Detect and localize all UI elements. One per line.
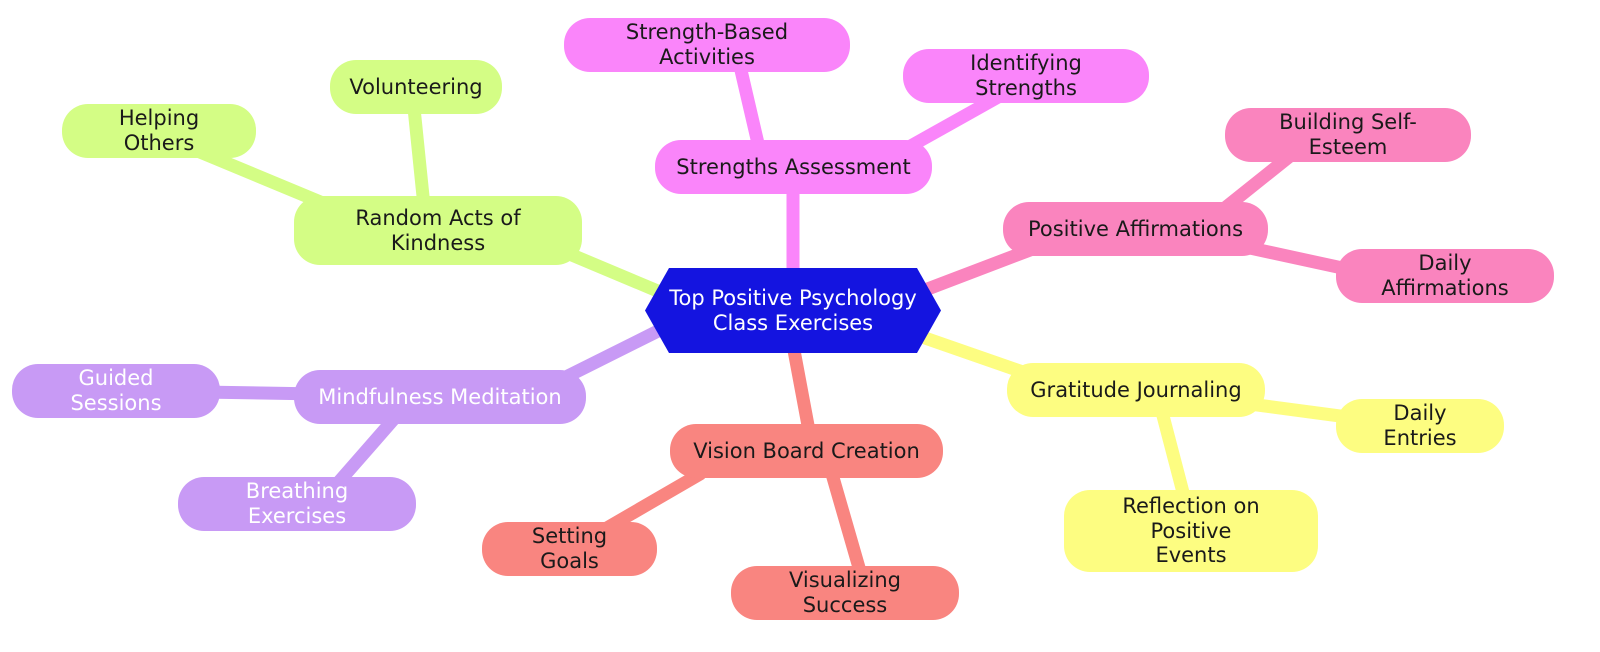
edge-root-vision-board (793, 345, 810, 436)
mindmap-node-identifying-strengths[interactable]: Identifying Strengths (903, 49, 1149, 103)
mindmap-node-vision-board-creation[interactable]: Vision Board Creation (670, 424, 943, 478)
mindmap-node-breathing-exercises[interactable]: Breathing Exercises (178, 477, 416, 531)
mindmap-node-label-visualizing-success: Visualizing Success (751, 568, 939, 618)
mindmap-node-label-daily-entries: Daily Entries (1356, 401, 1484, 451)
edge-random-acts-volunteering (414, 108, 424, 206)
mindmap-node-visualizing-success[interactable]: Visualizing Success (731, 566, 959, 620)
mindmap-node-label-reflection-on-positive-events: Reflection on Positive Events (1084, 494, 1298, 568)
mindmap-canvas: Helping OthersVolunteeringRandom Acts of… (0, 0, 1600, 652)
edge-vision-visualizing (832, 474, 862, 578)
mindmap-node-label-building-self-esteem: Building Self-Esteem (1245, 110, 1451, 160)
mindmap-node-strengths-assessment[interactable]: Strengths Assessment (655, 140, 932, 194)
mindmap-node-label-identifying-strengths: Identifying Strengths (923, 51, 1129, 101)
mindmap-node-gratitude-journaling[interactable]: Gratitude Journaling (1007, 363, 1265, 417)
mindmap-node-volunteering[interactable]: Volunteering (330, 60, 502, 114)
mindmap-node-positive-affirmations[interactable]: Positive Affirmations (1003, 202, 1268, 256)
mindmap-node-random-acts-of-kindness[interactable]: Random Acts of Kindness (294, 196, 582, 265)
mindmap-node-helping-others[interactable]: Helping Others (62, 104, 256, 158)
mindmap-node-reflection-on-positive-events[interactable]: Reflection on Positive Events (1064, 490, 1318, 572)
mindmap-node-label-strength-based-activities: Strength-Based Activities (584, 20, 830, 70)
mindmap-node-guided-sessions[interactable]: Guided Sessions (12, 364, 220, 418)
mindmap-node-root[interactable]: Top Positive Psychology Class Exercises (645, 268, 941, 353)
mindmap-node-daily-affirmations[interactable]: Daily Affirmations (1336, 249, 1554, 303)
mindmap-node-label-strengths-assessment: Strengths Assessment (676, 155, 910, 180)
mindmap-node-label-mindfulness-meditation: Mindfulness Meditation (318, 385, 561, 410)
mindmap-node-mindfulness-meditation[interactable]: Mindfulness Meditation (294, 370, 586, 424)
mindmap-node-setting-goals[interactable]: Setting Goals (482, 522, 657, 576)
mindmap-node-strength-based-activities[interactable]: Strength-Based Activities (564, 18, 850, 72)
mindmap-node-building-self-esteem[interactable]: Building Self-Esteem (1225, 108, 1471, 162)
mindmap-node-label-vision-board-creation: Vision Board Creation (693, 439, 920, 464)
mindmap-node-label-random-acts-of-kindness: Random Acts of Kindness (314, 206, 562, 256)
mindmap-node-label-positive-affirmations: Positive Affirmations (1028, 217, 1243, 242)
mindmap-node-label-root: Top Positive Psychology Class Exercises (669, 286, 917, 336)
mindmap-node-label-daily-affirmations: Daily Affirmations (1356, 251, 1534, 301)
edge-gratitude-reflection (1162, 412, 1185, 500)
mindmap-node-label-breathing-exercises: Breathing Exercises (198, 479, 396, 529)
mindmap-node-label-helping-others: Helping Others (82, 106, 236, 156)
mindmap-node-label-setting-goals: Setting Goals (502, 524, 637, 574)
mindmap-node-label-guided-sessions: Guided Sessions (32, 366, 200, 416)
mindmap-node-label-gratitude-journaling: Gratitude Journaling (1030, 378, 1241, 403)
mindmap-node-label-volunteering: Volunteering (349, 75, 482, 100)
mindmap-node-daily-entries[interactable]: Daily Entries (1336, 399, 1504, 453)
